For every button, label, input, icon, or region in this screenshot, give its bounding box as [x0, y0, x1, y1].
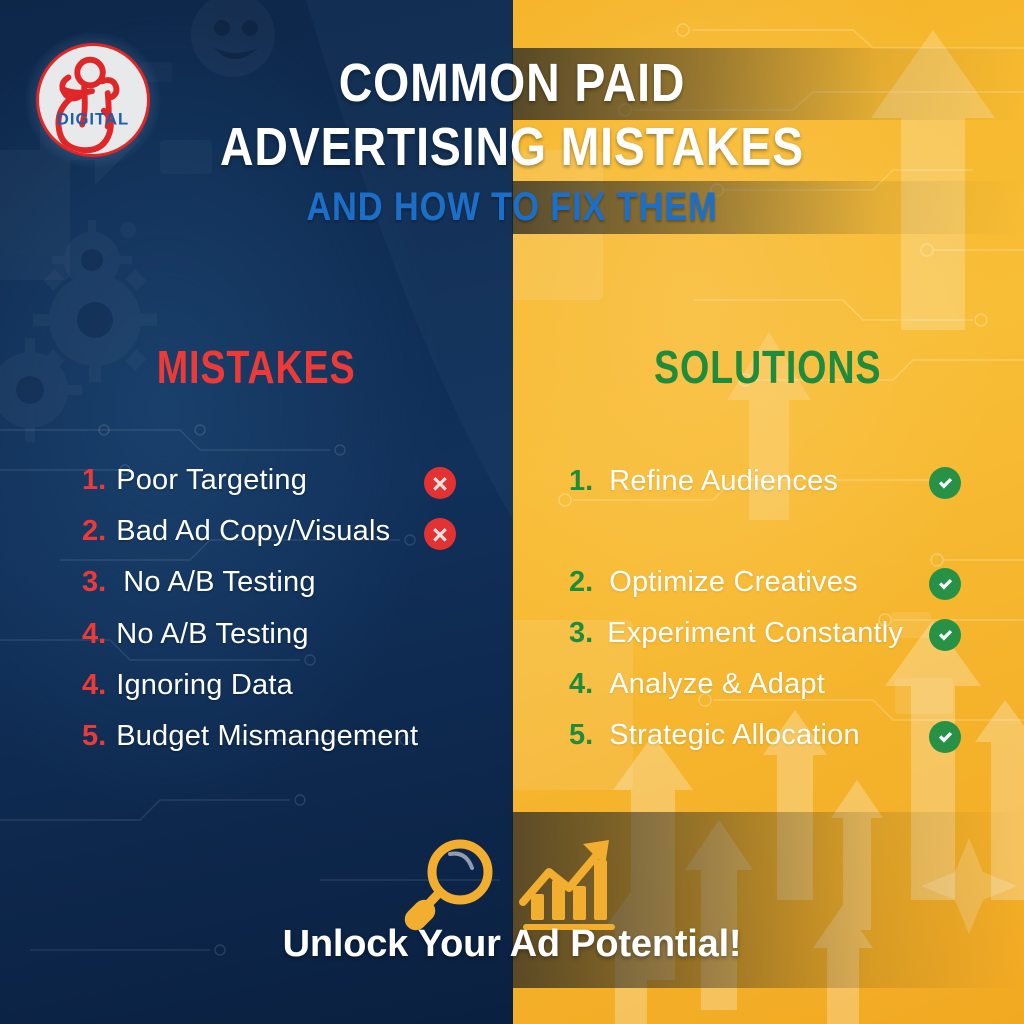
- cross-icon: [424, 467, 456, 499]
- item-label: Budget Mismangement: [116, 720, 418, 753]
- cross-icon: [424, 518, 456, 550]
- title-line-2-wrap: ADVERTISING MISTAKES: [0, 116, 1024, 180]
- list-item: 2. Bad Ad Copy/Visuals: [82, 515, 390, 548]
- footer-cta: Unlock Your Ad Potential!: [0, 923, 1024, 966]
- list-item: 4. No A/B Testing: [82, 618, 309, 651]
- item-number: 1.: [569, 465, 593, 498]
- mistakes-heading: MISTAKES: [157, 340, 356, 394]
- solutions-heading-cell: SOLUTIONS: [512, 340, 1024, 394]
- list-item: 1. Refine Audiences: [569, 465, 838, 498]
- item-number: 2.: [569, 566, 593, 599]
- footer-icons: [0, 836, 1024, 932]
- check-icon: [929, 467, 961, 499]
- item-label: No A/B Testing: [116, 618, 309, 651]
- item-label: No A/B Testing: [123, 566, 316, 599]
- solutions-heading: SOLUTIONS: [654, 340, 881, 394]
- growth-chart-icon: [517, 836, 621, 932]
- check-icon: [929, 721, 961, 753]
- check-icon: [929, 619, 961, 651]
- title-line-1: COMMON PAID: [72, 52, 953, 116]
- item-label: Optimize Creatives: [609, 566, 858, 599]
- item-number: 3.: [569, 617, 593, 650]
- item-label: Refine Audiences: [609, 465, 838, 498]
- item-label: Analyze & Adapt: [609, 668, 825, 701]
- infographic-poster: DIGITAL COMMON PAID ADVERTISING MISTAKES…: [0, 0, 1024, 1024]
- item-number: 5.: [82, 720, 106, 753]
- list-item: 1. Poor Targeting: [82, 464, 307, 497]
- subtitle: AND HOW TO FIX THEM: [72, 185, 953, 230]
- list-item: 4. Ignoring Data: [82, 669, 293, 702]
- item-label: Poor Targeting: [116, 464, 307, 497]
- item-number: 1.: [82, 464, 106, 497]
- item-label: Bad Ad Copy/Visuals: [116, 515, 390, 548]
- title-line-2: ADVERTISING MISTAKES: [72, 116, 953, 180]
- item-label: Strategic Allocation: [609, 719, 860, 752]
- list-item: 4. Analyze & Adapt: [569, 668, 825, 701]
- item-number: 4.: [569, 668, 593, 701]
- item-label: Experiment Constantly: [607, 617, 903, 650]
- list-item: 2. Optimize Creatives: [569, 566, 858, 599]
- list-item: 5. Budget Mismangement: [82, 720, 418, 753]
- title-block: COMMON PAID ADVERTISING MISTAKES AND HOW…: [0, 52, 1024, 230]
- item-label: Ignoring Data: [116, 669, 293, 702]
- mistakes-heading-cell: MISTAKES: [0, 340, 512, 394]
- item-number: 2.: [82, 515, 106, 548]
- list-item: 5. Strategic Allocation: [569, 719, 860, 752]
- item-number: 4.: [82, 618, 106, 651]
- item-number: 3.: [82, 566, 106, 599]
- title-band-1: COMMON PAID: [0, 52, 1024, 116]
- check-icon: [929, 568, 961, 600]
- subtitle-band: AND HOW TO FIX THEM: [0, 185, 1024, 230]
- item-number: 4.: [82, 669, 106, 702]
- column-headings: MISTAKES SOLUTIONS: [0, 340, 1024, 394]
- list-item: 3. Experiment Constantly: [569, 617, 903, 650]
- magnifier-icon: [403, 836, 499, 932]
- item-number: 5.: [569, 719, 593, 752]
- list-item: 3. No A/B Testing: [82, 566, 316, 599]
